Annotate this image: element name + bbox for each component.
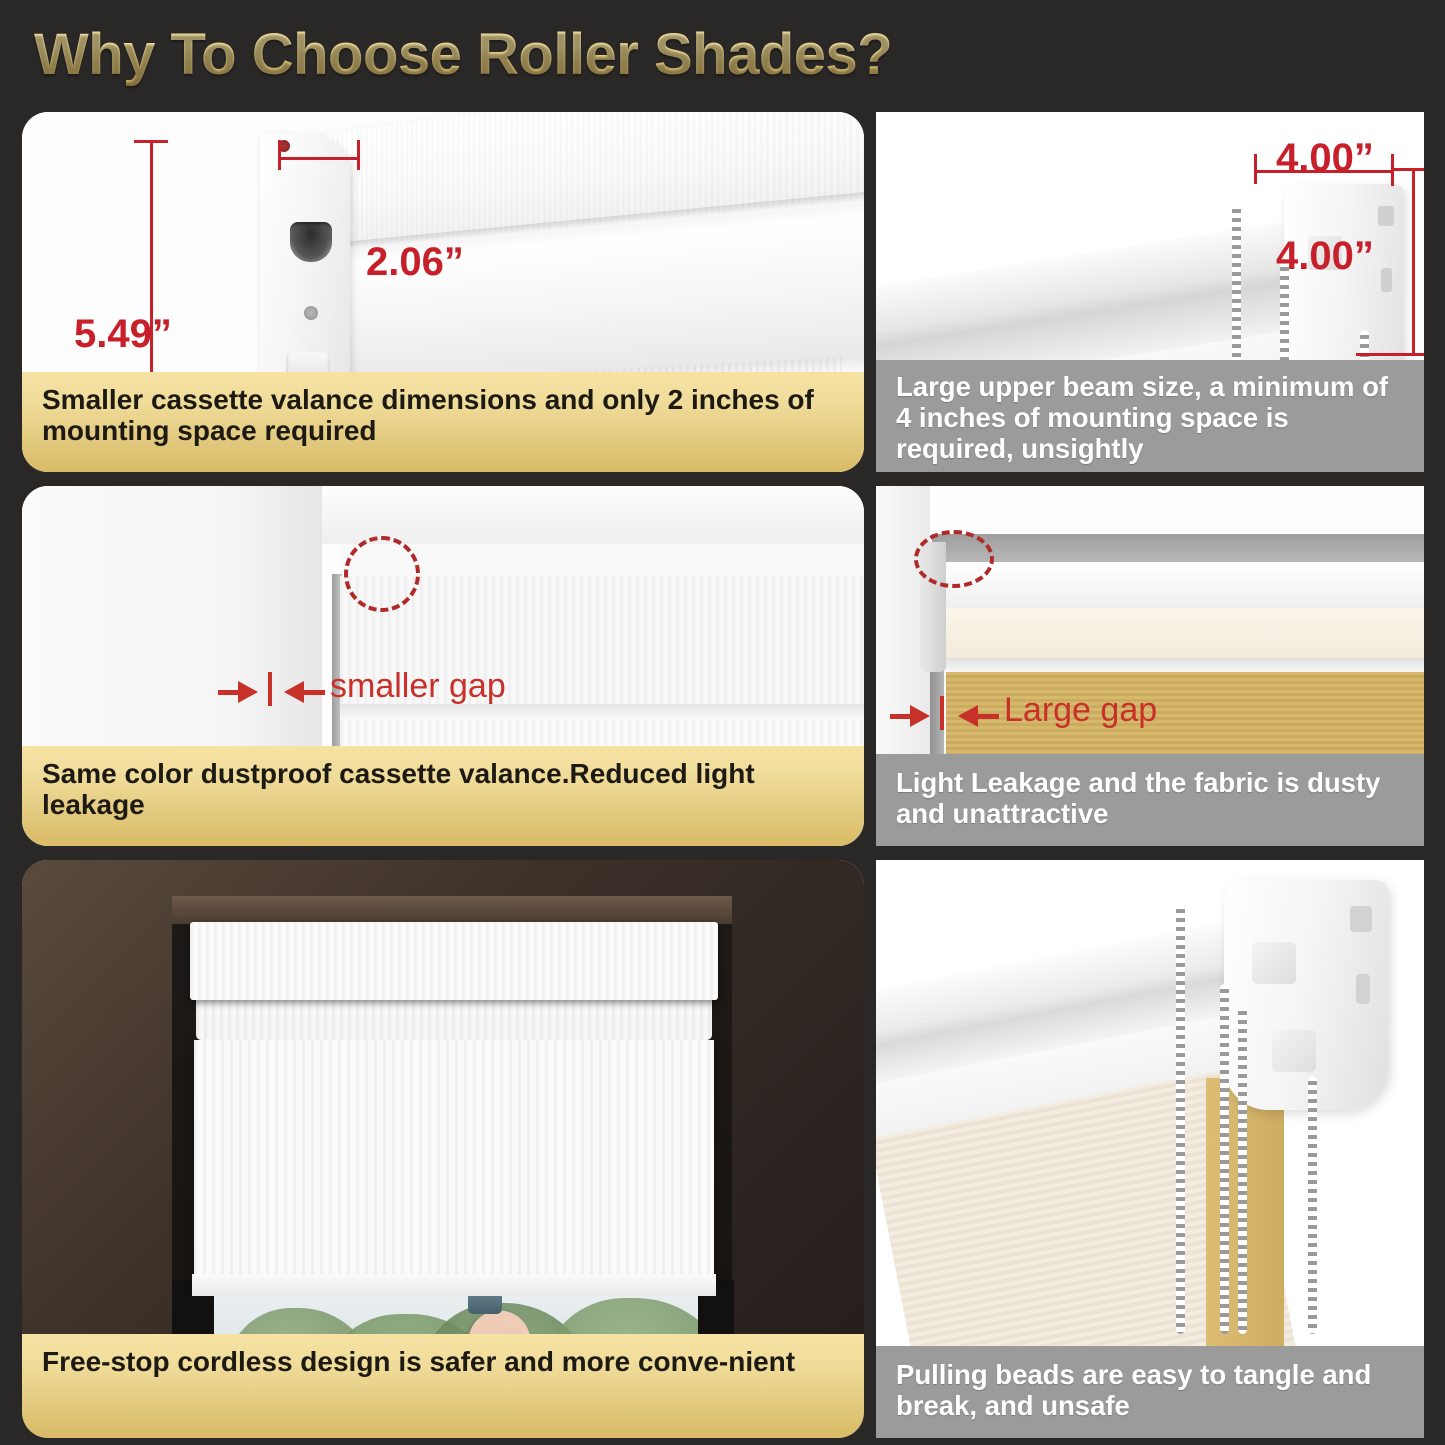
panel-dustproof-valance: smaller gap Same color dustproof cassett… bbox=[22, 486, 864, 846]
beam-width-dimension-label: 4.00” bbox=[1276, 136, 1374, 181]
gap-arrow-left-stem bbox=[218, 690, 240, 695]
gap-callout-label: Large gap bbox=[1004, 691, 1157, 730]
width-dimension-tick-right bbox=[357, 140, 360, 170]
panel-caption: Light Leakage and the fabric is dusty an… bbox=[876, 754, 1424, 846]
panel-caption: Free-stop cordless design is safer and m… bbox=[22, 1334, 864, 1438]
panel-light-leakage: Large gap Light Leakage and the fabric i… bbox=[876, 486, 1424, 846]
highlight-circle-icon bbox=[914, 530, 994, 588]
cassette-valance-lower bbox=[196, 996, 712, 1040]
cassette-valance-upper bbox=[190, 922, 718, 1000]
panel-caption: Smaller cassette valance dimensions and … bbox=[22, 372, 864, 472]
bead-chain-left bbox=[1176, 904, 1185, 1334]
bracket-notch-mid bbox=[1356, 974, 1370, 1004]
gap-arrow-right-head bbox=[238, 681, 258, 703]
bead-chain-middle-2 bbox=[1238, 1006, 1247, 1334]
panel-cassette-valance: 5.49” 2.06” Smaller cassette valance dim… bbox=[22, 112, 864, 472]
gap-arrow-left-stem bbox=[890, 714, 912, 719]
leakage-rail bbox=[940, 658, 1424, 672]
gap-callout-label: smaller gap bbox=[330, 667, 506, 706]
highlight-circle-icon bbox=[344, 536, 420, 612]
panel-caption: Pulling beads are easy to tangle and bre… bbox=[876, 1346, 1424, 1438]
bracket-logo-emboss-top bbox=[1252, 942, 1296, 984]
shade-divider-rail bbox=[340, 704, 864, 720]
bracket-notch-top bbox=[1378, 206, 1394, 226]
height-dimension-label: 5.49” bbox=[74, 312, 172, 357]
bead-chain-right bbox=[1308, 1076, 1317, 1334]
panel-caption: Large upper beam size, a minimum of 4 in… bbox=[876, 360, 1424, 472]
leakage-roller-tube bbox=[940, 562, 1424, 614]
gap-tick-mark bbox=[268, 672, 272, 706]
width-dimension-line bbox=[278, 157, 360, 160]
width-dimension-label: 2.06” bbox=[366, 240, 464, 285]
leakage-cream-fabric bbox=[942, 608, 1424, 662]
window-frame-top bbox=[322, 486, 864, 544]
valance-endcap bbox=[260, 134, 350, 406]
page-title: Why To Choose Roller Shades? bbox=[34, 21, 892, 88]
beam-height-tick-bottom bbox=[1356, 353, 1424, 356]
width-dimension-tick-left bbox=[278, 140, 281, 170]
panel-large-upper-beam: 4.00” 4.00” Large upper beam size, a min… bbox=[876, 112, 1424, 472]
gap-arrow-left-head bbox=[958, 705, 978, 727]
beam-width-tick-left bbox=[1254, 154, 1257, 184]
bead-chain-middle bbox=[1220, 984, 1229, 1334]
endcap-slot bbox=[290, 222, 332, 262]
bracket-notch-top bbox=[1350, 906, 1372, 932]
header-bar: Why To Choose Roller Shades? bbox=[0, 0, 1445, 108]
comparison-grid: 5.49” 2.06” Smaller cassette valance dim… bbox=[0, 108, 1445, 1445]
roller-shade-bottom-bar bbox=[192, 1274, 716, 1296]
gap-arrow-right-stem bbox=[303, 690, 325, 695]
roller-shade-fabric bbox=[194, 1040, 714, 1282]
beam-height-dimension-label: 4.00” bbox=[1276, 234, 1374, 279]
endcap-screw bbox=[304, 306, 318, 320]
gap-arrow-right-stem bbox=[977, 714, 999, 719]
beads-bracket bbox=[1224, 880, 1388, 1110]
gap-arrow-left-head bbox=[284, 681, 304, 703]
height-dimension-tick-top bbox=[134, 140, 168, 143]
beam-height-dimension-line bbox=[1412, 168, 1415, 356]
gap-tick-mark bbox=[940, 696, 944, 730]
gap-arrow-right-head bbox=[910, 705, 930, 727]
panel-caption: Same color dustproof cassette valance.Re… bbox=[22, 746, 864, 846]
bracket-notch-mid bbox=[1381, 268, 1392, 292]
beam-height-tick-top bbox=[1394, 168, 1424, 171]
panel-pulling-beads: Pulling beads are easy to tangle and bre… bbox=[876, 860, 1424, 1438]
window-reveal-top bbox=[172, 896, 732, 924]
panel-cordless-design: Free-stop cordless design is safer and m… bbox=[22, 860, 864, 1438]
shade-pull-grip bbox=[468, 1296, 502, 1314]
bracket-logo-emboss-bottom bbox=[1272, 1030, 1316, 1072]
